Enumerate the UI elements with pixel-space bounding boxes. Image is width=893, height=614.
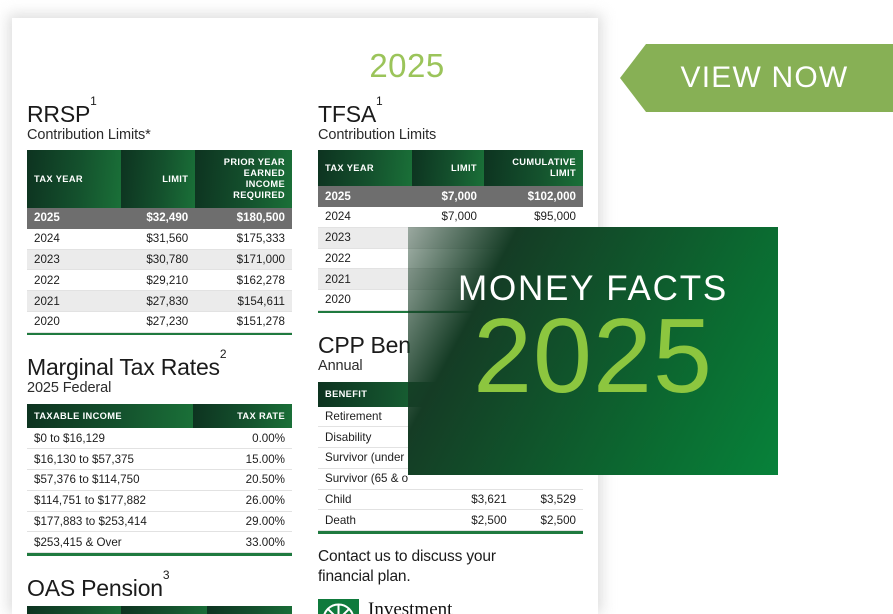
- overlay-card-content: MONEY FACTS 2025: [408, 271, 778, 406]
- cell-cumulative: $95,000: [484, 206, 583, 227]
- cell-year: 2021: [27, 291, 121, 312]
- cpp-table-bottom-rule: [318, 531, 583, 534]
- masthead-year: 2025: [369, 47, 444, 84]
- section-rrsp: RRSP1 Contribution Limits* TAX YEAR LIMI…: [27, 102, 292, 335]
- oas-title: OAS Pension: [27, 575, 163, 601]
- table-row: 2024 $31,560 $175,333: [27, 228, 292, 249]
- screen-canvas: Money Facts 2025 RRSP1 Contribution Limi…: [0, 0, 893, 610]
- marginal-tax-title-row: Marginal Tax Rates2: [27, 355, 292, 380]
- oas-col-clawback-starts: CLAWBACK STARTS @ NET INCOME OF:: [121, 606, 206, 614]
- cell-year: 2022: [27, 270, 121, 291]
- view-now-label: VIEW NOW: [665, 61, 849, 95]
- cell-limit: $32,490: [121, 208, 195, 228]
- cell-year: 2023: [318, 227, 412, 248]
- marginal-tax-title: Marginal Tax Rates: [27, 354, 220, 380]
- table-row: $16,130 to $57,375 15.00%: [27, 449, 292, 470]
- marginal-tax-table: TAXABLE INCOME TAX RATE $0 to $16,129 0.…: [27, 404, 292, 554]
- spacer: [27, 560, 292, 576]
- cell-income: $16,130 to $57,375: [27, 449, 193, 470]
- cell-rate: 15.00%: [193, 449, 292, 470]
- masthead-title: Money Facts: [165, 47, 359, 84]
- oas-title-row: OAS Pension3: [27, 576, 292, 601]
- tfsa-title-row: TFSA1: [318, 102, 583, 127]
- cell-value-a: $2,500: [444, 510, 513, 531]
- cell-rate: 26.00%: [193, 490, 292, 511]
- contact-message: Contact us to discuss your financial pla…: [318, 547, 583, 587]
- marginal-tax-table-bottom-rule: [27, 553, 292, 556]
- table-row: $253,415 & Over 33.00%: [27, 532, 292, 553]
- table-row: 2021 $27,830 $154,611: [27, 291, 292, 312]
- cell-year: 2022: [318, 248, 412, 269]
- cell-prior: $171,000: [195, 249, 292, 270]
- table-row: $57,376 to $114,750 20.50%: [27, 470, 292, 491]
- section-oas-pension: OAS Pension3 MAX PENSION @ JAN 2025 CLAW…: [27, 576, 292, 614]
- section-contact: Contact us to discuss your financial pla…: [318, 547, 583, 614]
- table-row: $0 to $16,129 0.00%: [27, 428, 292, 448]
- cell-prior: $180,500: [195, 208, 292, 228]
- tfsa-col-cumulative-limit: CUMULATIVE LIMIT: [484, 150, 583, 186]
- rrsp-footnote-marker: 1: [90, 94, 96, 108]
- cell-value-b: $3,529: [514, 489, 583, 510]
- cell-income: $57,376 to $114,750: [27, 470, 193, 491]
- cell-prior: $162,278: [195, 270, 292, 291]
- cell-limit: $27,830: [121, 291, 195, 312]
- table-row: Death $2,500 $2,500: [318, 510, 583, 531]
- money-facts-overlay-card[interactable]: MONEY FACTS 2025: [408, 227, 778, 475]
- marginal-col-taxable-income: TAXABLE INCOME: [27, 404, 193, 429]
- cell-year: 2024: [318, 206, 412, 227]
- logo-words: Investment Planning Counsel®: [368, 599, 509, 614]
- table-row: 2025 $32,490 $180,500: [27, 208, 292, 228]
- cell-limit: $30,780: [121, 249, 195, 270]
- cell-rate: 20.50%: [193, 470, 292, 491]
- cell-limit: $29,210: [121, 270, 195, 291]
- overlay-card-year: 2025: [408, 308, 778, 406]
- cell-income: $177,883 to $253,414: [27, 511, 193, 532]
- tfsa-footnote-marker: 1: [376, 94, 382, 108]
- cell-rate: 29.00%: [193, 511, 292, 532]
- tfsa-title: TFSA: [318, 101, 376, 127]
- cell-limit: $7,000: [412, 186, 484, 206]
- rrsp-title-row: RRSP1: [27, 102, 292, 127]
- table-header-row: TAXABLE INCOME TAX RATE: [27, 404, 292, 429]
- document-masthead: Money Facts 2025: [27, 37, 583, 93]
- cell-income: $0 to $16,129: [27, 428, 193, 448]
- cell-year: 2024: [27, 228, 121, 249]
- table-row: $114,751 to $177,882 26.00%: [27, 490, 292, 511]
- tfsa-subtitle: Contribution Limits: [318, 127, 583, 144]
- table-header-row: TAX YEAR LIMIT PRIOR YEAR EARNED INCOME …: [27, 150, 292, 208]
- logo-line-1: Investment: [368, 600, 509, 614]
- cell-year: 2023: [27, 249, 121, 270]
- rrsp-col-tax-year: TAX YEAR: [27, 150, 121, 208]
- cell-cumulative: $102,000: [484, 186, 583, 206]
- cell-income: $114,751 to $177,882: [27, 490, 193, 511]
- table-row: Child $3,621 $3,529: [318, 489, 583, 510]
- cell-rate: 0.00%: [193, 428, 292, 448]
- rrsp-table-bottom-rule: [27, 333, 292, 336]
- contact-line-1: Contact us to discuss your: [318, 548, 496, 565]
- table-row: 2025 $7,000 $102,000: [318, 186, 583, 206]
- oas-col-clawback-ends: CLAWBACK ENDS @ NET INCOME OF:: [207, 606, 292, 614]
- view-now-button[interactable]: VIEW NOW: [620, 44, 893, 112]
- marginal-col-tax-rate: TAX RATE: [193, 404, 292, 429]
- rrsp-subtitle: Contribution Limits*: [27, 127, 292, 144]
- tfsa-col-limit: LIMIT: [412, 150, 484, 186]
- cell-prior: $151,278: [195, 312, 292, 333]
- cell-prior: $154,611: [195, 291, 292, 312]
- cell-prior: $175,333: [195, 228, 292, 249]
- rrsp-col-limit: LIMIT: [121, 150, 195, 208]
- cell-year: 2020: [27, 312, 121, 333]
- rrsp-table: TAX YEAR LIMIT PRIOR YEAR EARNED INCOME …: [27, 150, 292, 333]
- table-row: 2022 $29,210 $162,278: [27, 270, 292, 291]
- table-row: $177,883 to $253,414 29.00%: [27, 511, 292, 532]
- tfsa-col-tax-year: TAX YEAR: [318, 150, 412, 186]
- marginal-tax-footnote-marker: 2: [220, 347, 226, 361]
- rrsp-col-prior-income: PRIOR YEAR EARNED INCOME REQUIRED: [195, 150, 292, 208]
- cell-benefit: Death: [318, 510, 444, 531]
- section-marginal-tax-rates: Marginal Tax Rates2 2025 Federal TAXABLE…: [27, 355, 292, 555]
- cell-limit: $31,560: [121, 228, 195, 249]
- table-header-row: MAX PENSION @ JAN 2025 CLAWBACK STARTS @…: [27, 606, 292, 614]
- left-column: RRSP1 Contribution Limits* TAX YEAR LIMI…: [27, 102, 292, 614]
- cell-year: 2020: [318, 290, 412, 311]
- cell-value-a: $3,621: [444, 489, 513, 510]
- pinwheel-logo-icon: [318, 599, 359, 614]
- rrsp-title: RRSP: [27, 101, 90, 127]
- cell-rate: 33.00%: [193, 532, 292, 553]
- cell-limit: $7,000: [412, 206, 484, 227]
- oas-footnote-marker: 3: [163, 568, 169, 582]
- contact-line-2: financial plan.: [318, 568, 411, 585]
- cell-value-b: $2,500: [514, 510, 583, 531]
- cell-year: 2025: [27, 208, 121, 228]
- cell-year: 2021: [318, 269, 412, 290]
- company-logo: Investment Planning Counsel®: [318, 599, 583, 614]
- marginal-tax-subtitle: 2025 Federal: [27, 380, 292, 397]
- cell-year: 2025: [318, 186, 412, 206]
- cell-limit: $27,230: [121, 312, 195, 333]
- table-row: 2023 $30,780 $171,000: [27, 249, 292, 270]
- cell-income: $253,415 & Over: [27, 532, 193, 553]
- masthead-title-group: Money Facts 2025: [165, 49, 445, 82]
- oas-table: MAX PENSION @ JAN 2025 CLAWBACK STARTS @…: [27, 606, 292, 614]
- logo-wordmark: Investment Planning Counsel®: [368, 599, 509, 614]
- oas-col-max-pension: MAX PENSION @ JAN 2025: [27, 606, 121, 614]
- table-row: 2024 $7,000 $95,000: [318, 206, 583, 227]
- table-row: 2020 $27,230 $151,278: [27, 312, 292, 333]
- spacer: [27, 339, 292, 355]
- table-header-row: TAX YEAR LIMIT CUMULATIVE LIMIT: [318, 150, 583, 186]
- cell-benefit: Child: [318, 489, 444, 510]
